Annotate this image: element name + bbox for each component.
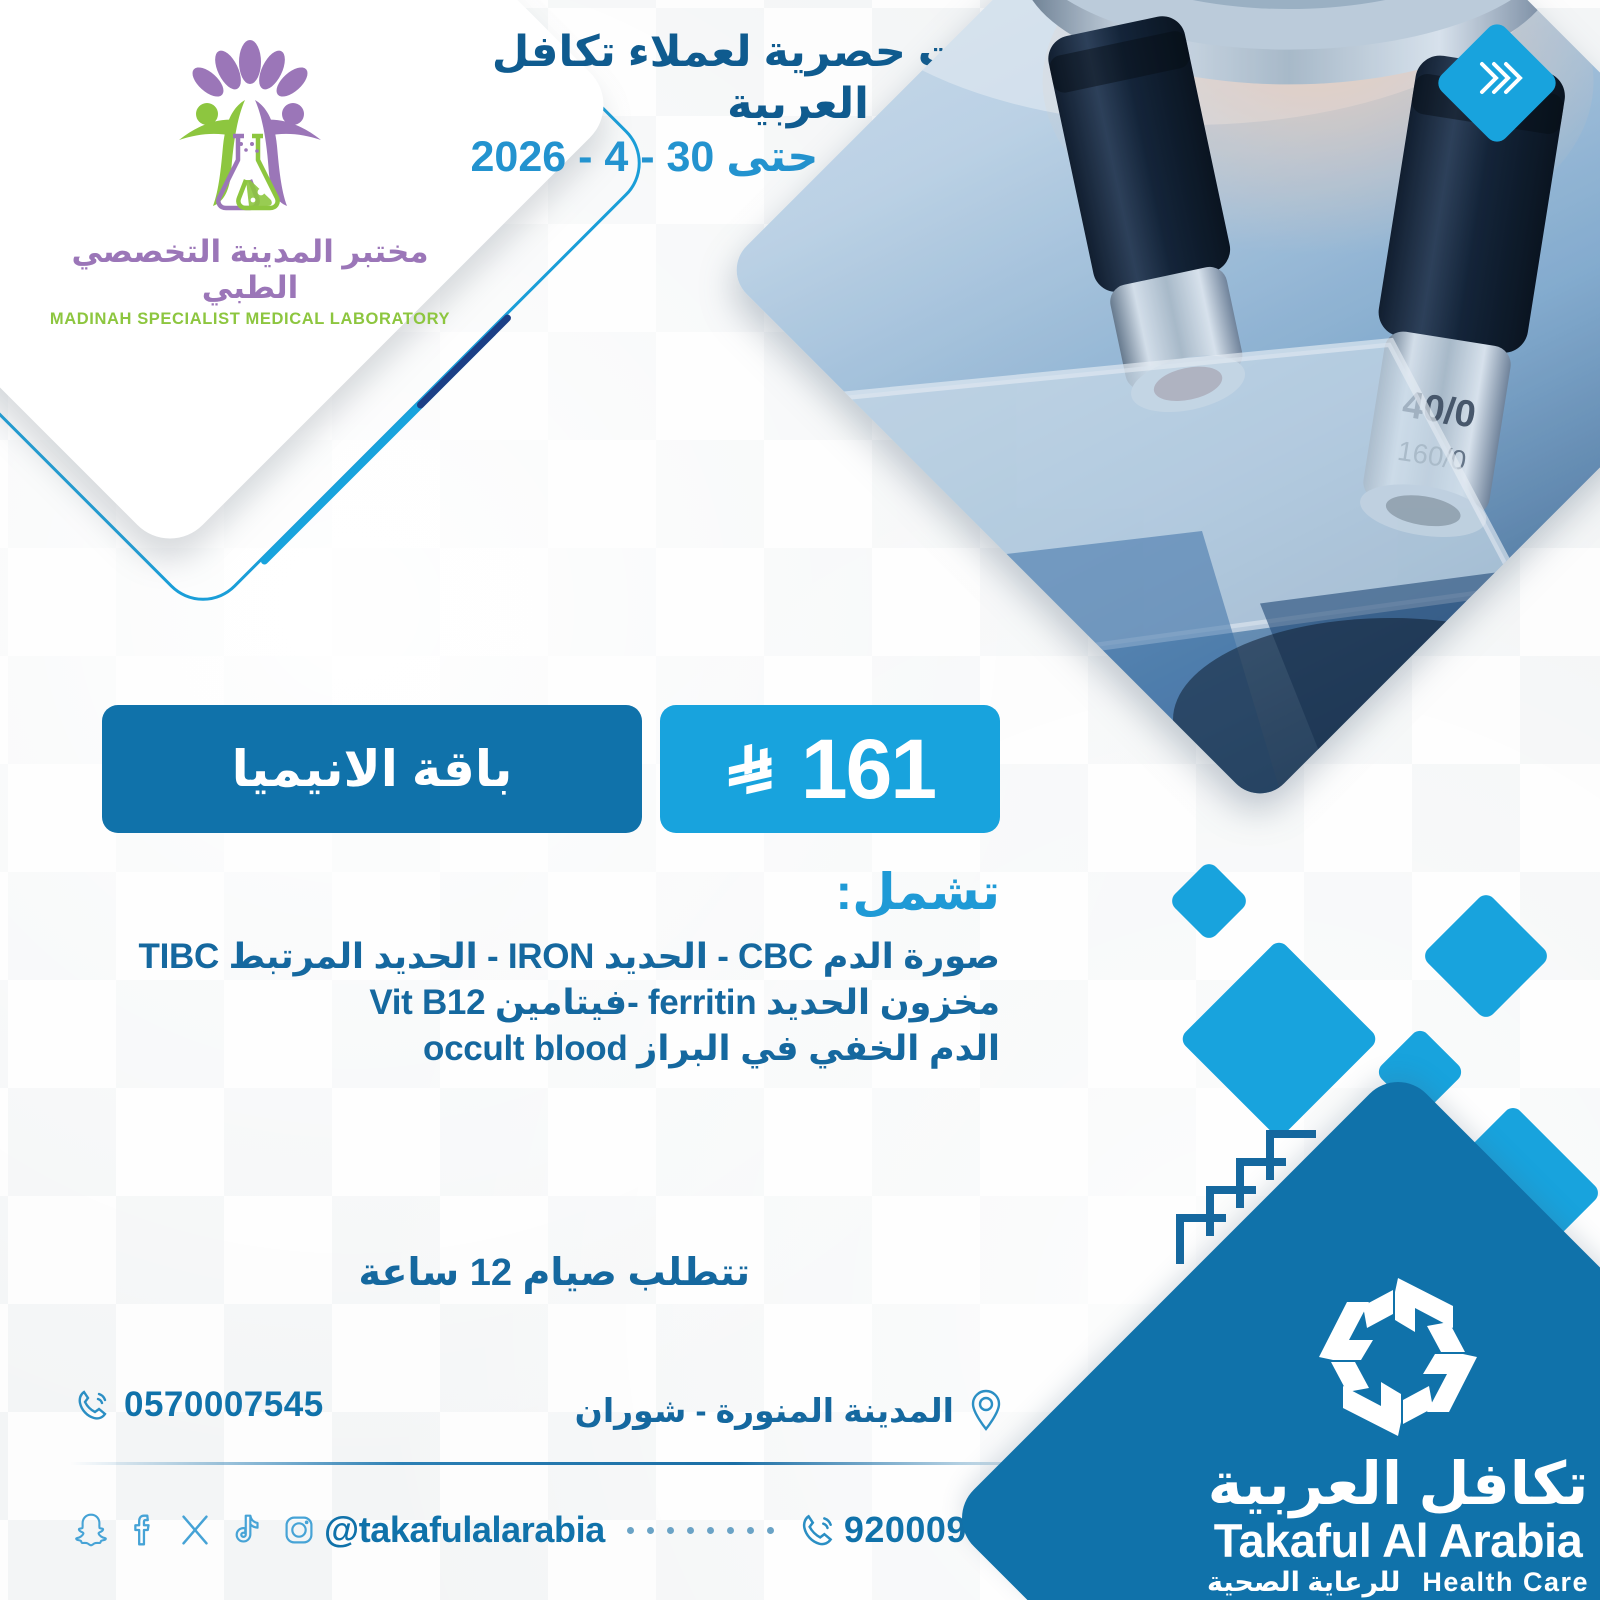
brand-tagline-arabic: للرعاية الصحية (1207, 1567, 1400, 1598)
package-name: باقة الانيميا (232, 740, 513, 798)
lotus-people-flask-icon (145, 40, 355, 230)
location-pin-icon (966, 1387, 1006, 1433)
package-badge: باقة الانيميا (102, 705, 642, 833)
mobile-phone[interactable]: 0570007545 (72, 1385, 324, 1425)
saudi-riyal-symbol-icon (725, 738, 787, 800)
location: المدينة المنورة - شوران (575, 1387, 1006, 1433)
facebook-icon[interactable] (122, 1509, 164, 1551)
brand-name-english: Takaful Al Arabia (1168, 1516, 1600, 1565)
lab-logo: مختبر المدينة التخصصي الطبي MADINAH SPEC… (40, 40, 460, 329)
promo-poster: مختبر المدينة التخصصي الطبي MADINAH SPEC… (0, 0, 1600, 1600)
footer-divider (70, 1462, 1020, 1465)
location-text: المدينة المنورة - شوران (575, 1391, 954, 1430)
dot-separator (627, 1527, 774, 1534)
includes-line: مخزون الحديد ferritin -فيتامين Vit B12 (0, 980, 1000, 1026)
footer-social-row: @takafulalarabia 920009460 (70, 1495, 1030, 1565)
footer-contact-row: 0570007545 المدينة المنورة - شوران (0, 1385, 1040, 1447)
phone-icon (72, 1385, 112, 1425)
lab-name-arabic: مختبر المدينة التخصصي الطبي (40, 234, 460, 306)
phone-icon (796, 1509, 838, 1551)
chevron-arrows-icon (1452, 38, 1542, 128)
instagram-icon[interactable] (278, 1509, 320, 1551)
tiktok-icon[interactable] (226, 1509, 268, 1551)
fasting-note: تتطلب صيام 12 ساعة (359, 1250, 751, 1295)
brand-tagline-english: Health Care (1422, 1567, 1589, 1598)
chevron-badge-diamond (1433, 19, 1560, 146)
pinwheel-star-icon (1303, 1262, 1493, 1452)
includes-line: الدم الخفي في البراز occult blood (0, 1026, 1000, 1072)
social-handle[interactable]: @takafulalarabia (324, 1509, 605, 1551)
price-value: 161 (801, 727, 935, 811)
social-icons (70, 1509, 320, 1551)
offer-row: 161 باقة الانيميا (102, 705, 1000, 833)
snapchat-icon[interactable] (70, 1509, 112, 1551)
brand-name-arabic: تكافل العربية (1168, 1454, 1600, 1516)
price-badge: 161 (660, 705, 1000, 833)
mobile-phone-number: 0570007545 (124, 1385, 324, 1425)
includes-line: صورة الدم CBC - الحديد IRON - الحديد الم… (0, 934, 1000, 980)
x-twitter-icon[interactable] (174, 1509, 216, 1551)
brand-logo: تكافل العربية Takaful Al Arabia Health C… (1168, 1262, 1600, 1598)
includes-block: تشمل: صورة الدم CBC - الحديد IRON - الحد… (0, 865, 1000, 1073)
includes-label: تشمل: (0, 865, 1000, 920)
lab-name-english: MADINAH SPECIALIST MEDICAL LABORATORY (40, 310, 460, 329)
